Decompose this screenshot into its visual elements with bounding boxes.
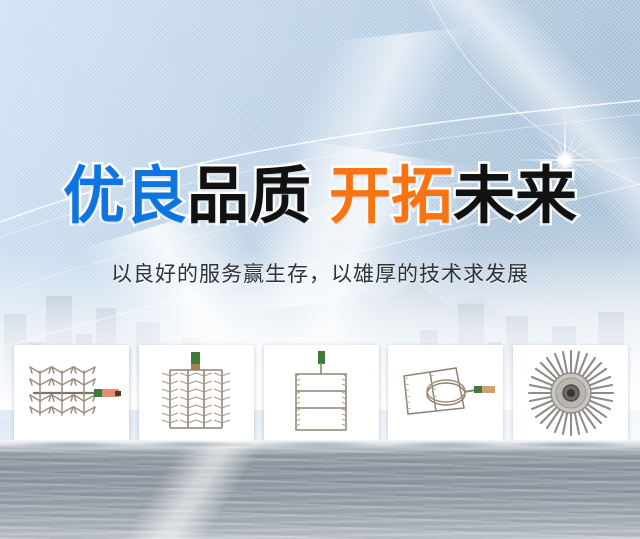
promo-banner: 优良品质开拓未来 以良好的服务赢生存，以雄厚的技术求发展 [0, 0, 640, 539]
ground-light-streak [105, 440, 265, 539]
headline-part-youliang: 优良 [63, 159, 187, 232]
card-shadow [14, 441, 129, 448]
headline-part-weilai: 未来 [453, 159, 577, 232]
double-row-spike-rack-image [156, 350, 236, 436]
comb-type-plating-rack-image [20, 354, 123, 432]
card-shadow [389, 441, 504, 448]
product-card-ladder-frame-rack[interactable] [264, 345, 379, 441]
product-card-comb-type-plating-rack[interactable] [14, 345, 129, 441]
square-ring-rack-image [394, 362, 498, 424]
headline: 优良品质开拓未来 [0, 163, 640, 229]
headline-part-pinzhi: 品质 [187, 159, 311, 232]
product-thumbnail-strip [14, 345, 628, 441]
card-shadow [139, 441, 254, 448]
card-shadow [514, 441, 629, 448]
product-card-double-row-spike-rack[interactable] [139, 345, 254, 441]
radial-sunburst-rack-image [526, 348, 616, 438]
product-card-radial-sunburst-rack[interactable] [513, 345, 628, 441]
card-shadow [264, 441, 379, 448]
product-card-square-ring-rack[interactable] [388, 345, 503, 441]
concrete-ground [0, 440, 640, 539]
ladder-frame-rack-image [284, 350, 358, 436]
headline-part-kaituo: 开拓 [329, 159, 453, 232]
subtitle: 以良好的服务赢生存，以雄厚的技术求发展 [0, 258, 640, 288]
